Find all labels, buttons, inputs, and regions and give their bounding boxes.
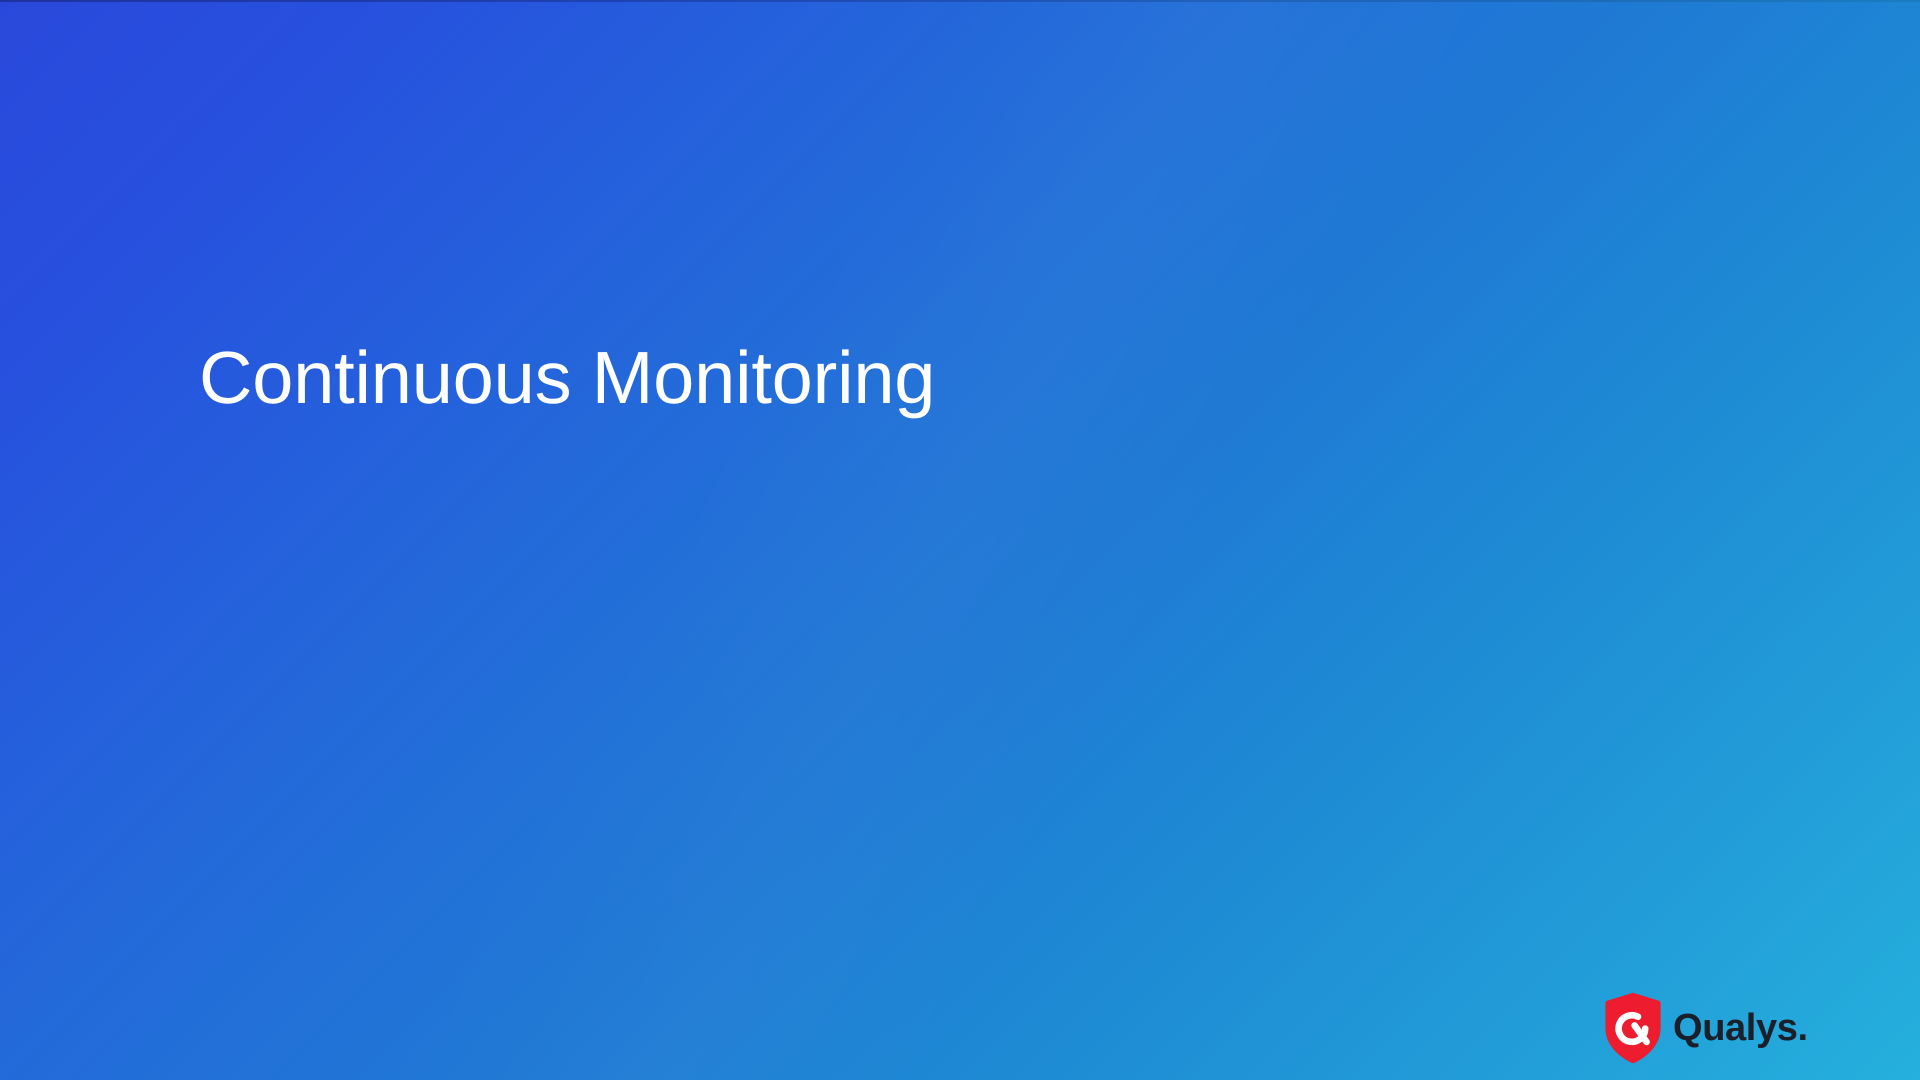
qualys-wordmark-text: Qualys. xyxy=(1673,1007,1808,1049)
slide-top-edge xyxy=(0,0,1920,2)
qualys-logo: Qualys. xyxy=(1605,992,1879,1064)
presentation-slide: Continuous Monitoring Qualys. xyxy=(0,0,1920,1080)
qualys-shield-icon xyxy=(1605,992,1661,1064)
qualys-wordmark: Qualys. xyxy=(1673,1005,1879,1051)
background-sheen xyxy=(0,0,1920,1080)
slide-title: Continuous Monitoring xyxy=(199,341,935,415)
